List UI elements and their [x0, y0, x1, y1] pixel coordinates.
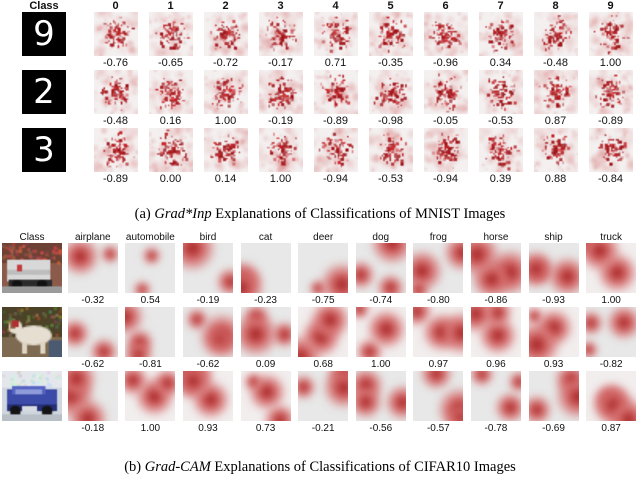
cifar-score-label: 0.87 [582, 423, 640, 435]
cifar-cell: -0.82 [582, 307, 640, 371]
cifar-score-label: 1.00 [122, 423, 180, 435]
cifar-cell: 0.93 [179, 371, 237, 435]
cifar-row: -0.62-0.81-0.620.090.681.000.970.960.93-… [0, 307, 640, 371]
cifar-gradcam-tile [298, 243, 348, 293]
mnist-cell: -0.65 [143, 12, 198, 70]
mnist-score-label: 0.71 [308, 57, 363, 70]
mnist-cell: -0.76 [88, 12, 143, 70]
cifar-gradcam-tile [298, 307, 348, 357]
cifar-cell: -0.23 [237, 243, 295, 307]
caption-b: (b) Grad-CAM Explanations of Classificat… [0, 459, 640, 476]
mnist-cell: -0.48 [88, 70, 143, 128]
cifar-score-label: -0.75 [294, 295, 352, 307]
mnist-cell: -0.53 [363, 128, 418, 186]
mnist-cell: -0.89 [308, 70, 363, 128]
mnist-col-header-8: 8 [528, 0, 583, 12]
mnist-col-header-4: 4 [308, 0, 363, 12]
cifar-score-label: -0.69 [525, 423, 583, 435]
mnist-saliency-tile [94, 128, 138, 172]
cifar-gradcam-tile [586, 307, 636, 357]
mnist-input-cell: 3 [0, 128, 88, 172]
mnist-score-label: -0.17 [253, 57, 308, 70]
mnist-score-label: 0.00 [143, 173, 198, 186]
cifar-gradcam-tile [68, 307, 118, 357]
mnist-cell: 0.39 [473, 128, 528, 186]
mnist-score-label: -0.65 [143, 57, 198, 70]
cifar-cell: -0.56 [352, 371, 410, 435]
mnist-score-label: -0.48 [528, 57, 583, 70]
mnist-cell: -0.05 [418, 70, 473, 128]
cifar-cell: 0.54 [122, 243, 180, 307]
cifar-gradcam-tile [241, 307, 291, 357]
cifar-score-label: -0.18 [64, 423, 122, 435]
cifar-score-label: -0.56 [352, 423, 410, 435]
mnist-input-cell: 2 [0, 70, 88, 114]
cifar-input-photo [2, 307, 62, 357]
mnist-score-label: -0.84 [583, 173, 638, 186]
mnist-saliency-tile [479, 128, 523, 172]
caption-b-index: (b) [124, 459, 141, 475]
mnist-cell: 0.87 [528, 70, 583, 128]
cifar-input-cell [0, 371, 64, 421]
mnist-row: 2-0.480.161.00-0.19-0.89-0.98-0.05-0.530… [0, 70, 640, 128]
mnist-saliency-tile [259, 12, 303, 56]
mnist-cell: -0.84 [583, 128, 638, 186]
mnist-cell: -0.89 [583, 70, 638, 128]
mnist-score-label: 1.00 [253, 173, 308, 186]
mnist-cell: 0.00 [143, 128, 198, 186]
cifar-input-cell [0, 307, 64, 357]
cifar-cell: -0.86 [467, 243, 525, 307]
cifar-score-label: -0.19 [179, 295, 237, 307]
cifar-score-label: -0.62 [179, 359, 237, 371]
cifar-score-label: 0.96 [467, 359, 525, 371]
cifar-gradcam-tile [241, 371, 291, 421]
cifar-score-label: 0.68 [294, 359, 352, 371]
mnist-input-digit-image: 2 [22, 70, 66, 114]
mnist-score-label: -0.72 [198, 57, 253, 70]
mnist-saliency-tile [424, 128, 468, 172]
caption-b-text: Explanations of Classifications of CIFAR… [214, 459, 515, 475]
cifar-score-label: -0.93 [525, 295, 583, 307]
cifar-cell: 0.09 [237, 307, 295, 371]
mnist-input-digit-image: 3 [22, 128, 66, 172]
mnist-cell: 1.00 [198, 70, 253, 128]
mnist-saliency-tile [534, 70, 578, 114]
cifar-gradcam-tile [413, 371, 463, 421]
mnist-saliency-tile [424, 12, 468, 56]
mnist-col-header-2: 2 [198, 0, 253, 12]
mnist-digit-glyph: 9 [22, 12, 66, 56]
cifar-cell: -0.78 [467, 371, 525, 435]
mnist-cell: -0.72 [198, 12, 253, 70]
mnist-input-digit-image: 9 [22, 12, 66, 56]
caption-a-method: Grad*Inp [154, 206, 211, 222]
mnist-score-label: -0.53 [473, 115, 528, 128]
mnist-score-label: 1.00 [583, 57, 638, 70]
mnist-score-label: -0.48 [88, 115, 143, 128]
mnist-score-label: -0.76 [88, 57, 143, 70]
mnist-saliency-tile [534, 12, 578, 56]
cifar-cell: 0.97 [410, 307, 468, 371]
cifar-gradcam-tile [356, 243, 406, 293]
mnist-saliency-tile [149, 128, 193, 172]
cifar-cell: -0.62 [179, 307, 237, 371]
cifar-gradcam-tile [413, 243, 463, 293]
mnist-saliency-tile [259, 70, 303, 114]
cifar-score-label: 1.00 [582, 295, 640, 307]
cifar-header-row: Class airplane automobile bird cat deer … [0, 232, 640, 243]
cifar-score-label: -0.74 [352, 295, 410, 307]
mnist-header-row: Class 0 1 2 3 4 5 6 7 8 9 [0, 0, 640, 12]
cifar-col-header-airplane: airplane [64, 232, 122, 243]
cifar-col-header-ship: ship [525, 232, 583, 243]
mnist-cell: -0.48 [528, 12, 583, 70]
mnist-class-header: Class [0, 0, 88, 12]
cifar-cell: 0.93 [525, 307, 583, 371]
mnist-score-label: 0.88 [528, 173, 583, 186]
mnist-score-label: -0.89 [583, 115, 638, 128]
cifar-score-label: 0.54 [122, 295, 180, 307]
cifar-row: -0.320.54-0.19-0.23-0.75-0.74-0.80-0.86-… [0, 243, 640, 307]
mnist-saliency-tile [479, 70, 523, 114]
cifar-score-label: 0.73 [237, 423, 295, 435]
mnist-score-label: -0.35 [363, 57, 418, 70]
figure-root: Class 0 1 2 3 4 5 6 7 8 9 9-0.76-0.65-0.… [0, 0, 640, 483]
mnist-cell: -0.96 [418, 12, 473, 70]
mnist-digit-glyph: 3 [22, 128, 66, 172]
cifar-gradcam-tile [356, 307, 406, 357]
mnist-saliency-tile [314, 128, 358, 172]
mnist-row: 9-0.76-0.65-0.72-0.170.71-0.35-0.960.34-… [0, 12, 640, 70]
mnist-score-label: -0.94 [418, 173, 473, 186]
mnist-cell: 1.00 [253, 128, 308, 186]
mnist-saliency-tile [369, 70, 413, 114]
mnist-cell: 0.88 [528, 128, 583, 186]
mnist-digit-glyph: 2 [22, 70, 66, 114]
mnist-col-header-1: 1 [143, 0, 198, 12]
mnist-cell: 0.71 [308, 12, 363, 70]
cifar-col-header-cat: cat [237, 232, 295, 243]
mnist-col-header-5: 5 [363, 0, 418, 12]
cifar-gradcam-tile [586, 371, 636, 421]
mnist-saliency-tile [94, 12, 138, 56]
mnist-cell: -0.94 [418, 128, 473, 186]
cifar-gradcam-tile [413, 307, 463, 357]
mnist-score-label: -0.98 [363, 115, 418, 128]
cifar-cell: -0.75 [294, 243, 352, 307]
cifar-cell: 1.00 [122, 371, 180, 435]
mnist-score-label: -0.89 [308, 115, 363, 128]
cifar-score-label: 0.93 [179, 423, 237, 435]
mnist-score-label: 0.14 [198, 173, 253, 186]
mnist-score-label: 0.87 [528, 115, 583, 128]
cifar-col-header-truck: truck [582, 232, 640, 243]
mnist-cell: -0.89 [88, 128, 143, 186]
cifar-gradcam-tile [586, 243, 636, 293]
cifar-cell: 1.00 [352, 307, 410, 371]
cifar-score-label: 0.09 [237, 359, 295, 371]
cifar-gradcam-tile [356, 371, 406, 421]
mnist-saliency-tile [424, 70, 468, 114]
caption-a-index: (a) [135, 206, 151, 222]
mnist-col-header-7: 7 [473, 0, 528, 12]
mnist-saliency-tile [479, 12, 523, 56]
cifar-score-label: -0.78 [467, 423, 525, 435]
caption-a: (a) Grad*Inp Explanations of Classificat… [0, 206, 640, 223]
cifar-score-label: -0.57 [410, 423, 468, 435]
mnist-score-label: -0.94 [308, 173, 363, 186]
cifar-score-label: -0.80 [410, 295, 468, 307]
mnist-cell: 0.14 [198, 128, 253, 186]
cifar-col-header-dog: dog [352, 232, 410, 243]
mnist-cell: 1.00 [583, 12, 638, 70]
mnist-saliency-tile [314, 70, 358, 114]
mnist-score-label: 0.16 [143, 115, 198, 128]
cifar-gradcam-tile [471, 307, 521, 357]
cifar-gradcam-tile [298, 371, 348, 421]
mnist-cell: -0.98 [363, 70, 418, 128]
mnist-panel: Class 0 1 2 3 4 5 6 7 8 9 9-0.76-0.65-0.… [0, 0, 640, 186]
mnist-col-header-0: 0 [88, 0, 143, 12]
mnist-score-label: -0.19 [253, 115, 308, 128]
mnist-cell: -0.94 [308, 128, 363, 186]
mnist-score-label: 0.39 [473, 173, 528, 186]
mnist-saliency-tile [204, 70, 248, 114]
mnist-score-label: 1.00 [198, 115, 253, 128]
cifar-col-header-automobile: automobile [122, 232, 180, 243]
cifar-gradcam-tile [125, 371, 175, 421]
cifar-score-label: -0.86 [467, 295, 525, 307]
cifar-score-label: -0.23 [237, 295, 295, 307]
caption-a-text: Explanations of Classifications of MNIST… [215, 206, 505, 222]
cifar-cell: -0.62 [64, 307, 122, 371]
mnist-col-header-3: 3 [253, 0, 308, 12]
mnist-saliency-tile [259, 128, 303, 172]
mnist-saliency-tile [94, 70, 138, 114]
mnist-col-header-6: 6 [418, 0, 473, 12]
mnist-saliency-tile [149, 12, 193, 56]
cifar-score-label: 1.00 [352, 359, 410, 371]
cifar-score-label: 0.93 [525, 359, 583, 371]
cifar-gradcam-tile [529, 307, 579, 357]
mnist-cell: -0.53 [473, 70, 528, 128]
cifar-gradcam-tile [183, 371, 233, 421]
mnist-saliency-tile [589, 12, 633, 56]
cifar-score-label: -0.82 [582, 359, 640, 371]
cifar-col-header-bird: bird [179, 232, 237, 243]
mnist-saliency-tile [314, 12, 358, 56]
cifar-cell: -0.81 [122, 307, 180, 371]
mnist-cell: 0.16 [143, 70, 198, 128]
cifar-panel: Class airplane automobile bird cat deer … [0, 232, 640, 435]
mnist-score-label: -0.89 [88, 173, 143, 186]
cifar-cell: -0.80 [410, 243, 468, 307]
cifar-cell: 0.68 [294, 307, 352, 371]
mnist-cell: -0.17 [253, 12, 308, 70]
mnist-saliency-tile [534, 128, 578, 172]
mnist-saliency-tile [589, 70, 633, 114]
cifar-cell: -0.74 [352, 243, 410, 307]
cifar-cell: -0.32 [64, 243, 122, 307]
mnist-saliency-tile [204, 12, 248, 56]
cifar-col-header-horse: horse [467, 232, 525, 243]
mnist-cell: -0.19 [253, 70, 308, 128]
mnist-saliency-tile [369, 128, 413, 172]
cifar-cell: -0.18 [64, 371, 122, 435]
mnist-row: 3-0.890.000.141.00-0.94-0.53-0.940.390.8… [0, 128, 640, 186]
cifar-gradcam-tile [529, 243, 579, 293]
cifar-gradcam-tile [241, 243, 291, 293]
cifar-input-photo [2, 371, 62, 421]
cifar-row: -0.181.000.930.73-0.21-0.56-0.57-0.78-0.… [0, 371, 640, 435]
cifar-score-label: 0.97 [410, 359, 468, 371]
cifar-gradcam-tile [125, 307, 175, 357]
cifar-score-label: -0.32 [64, 295, 122, 307]
cifar-gradcam-tile [471, 371, 521, 421]
cifar-cell: -0.21 [294, 371, 352, 435]
mnist-cell: -0.35 [363, 12, 418, 70]
cifar-gradcam-tile [183, 307, 233, 357]
cifar-class-header: Class [0, 232, 64, 243]
cifar-cell: -0.19 [179, 243, 237, 307]
cifar-col-header-deer: deer [294, 232, 352, 243]
mnist-input-cell: 9 [0, 12, 88, 56]
cifar-cell: -0.93 [525, 243, 583, 307]
cifar-cell: 0.87 [582, 371, 640, 435]
mnist-saliency-tile [589, 128, 633, 172]
cifar-cell: -0.57 [410, 371, 468, 435]
cifar-score-label: -0.81 [122, 359, 180, 371]
cifar-gradcam-tile [183, 243, 233, 293]
cifar-cell: 1.00 [582, 243, 640, 307]
cifar-gradcam-tile [125, 243, 175, 293]
cifar-input-cell [0, 243, 64, 293]
mnist-score-label: -0.96 [418, 57, 473, 70]
cifar-cell: 0.96 [467, 307, 525, 371]
cifar-gradcam-tile [471, 243, 521, 293]
mnist-saliency-tile [369, 12, 413, 56]
cifar-col-header-frog: frog [410, 232, 468, 243]
cifar-cell: 0.73 [237, 371, 295, 435]
mnist-score-label: -0.05 [418, 115, 473, 128]
mnist-col-header-9: 9 [583, 0, 638, 12]
cifar-gradcam-tile [68, 243, 118, 293]
mnist-score-label: -0.53 [363, 173, 418, 186]
mnist-saliency-tile [149, 70, 193, 114]
cifar-score-label: -0.62 [64, 359, 122, 371]
mnist-cell: 0.34 [473, 12, 528, 70]
cifar-gradcam-tile [529, 371, 579, 421]
cifar-cell: -0.69 [525, 371, 583, 435]
cifar-score-label: -0.21 [294, 423, 352, 435]
cifar-input-photo [2, 243, 62, 293]
mnist-saliency-tile [204, 128, 248, 172]
caption-b-method: Grad-CAM [145, 459, 211, 475]
mnist-score-label: 0.34 [473, 57, 528, 70]
cifar-gradcam-tile [68, 371, 118, 421]
